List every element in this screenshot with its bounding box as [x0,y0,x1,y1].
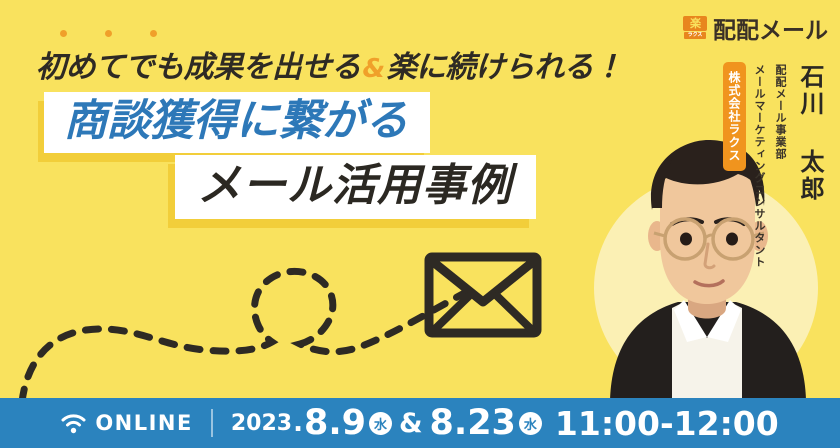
headline-box-1: 商談獲得に繋がる [44,92,430,153]
event-date-1-day: 水 [369,412,392,435]
headline-line-2: メール活用事例 [197,163,512,209]
event-dates-amp: & [399,408,423,439]
lead-dots [60,30,157,37]
event-dates: 2023 . 8.9 水 & 8.23 水 11:00-12:00 [231,404,779,443]
online-badge: ONLINE [61,411,193,435]
speaker-company: 株式会社ラクス [723,62,746,171]
brand-name: 配配メール [713,11,828,45]
headline-line-1: 商談獲得に繋がる [64,99,408,144]
lead-copy: 初めてでも成果を出せる&楽に続けられる！ [36,42,623,86]
speaker-name: 石川 太郎 [793,62,828,203]
event-year: 2023 [231,411,292,436]
lead-copy-amp: & [361,54,387,84]
logo-mark-sub: ラクス [684,32,706,39]
footer-divider [211,409,213,437]
online-label: ONLINE [95,411,193,435]
event-date-2-day: 水 [519,412,542,435]
rakus-logo-icon: 楽 ラクス [683,16,707,40]
event-footer-bar: ONLINE 2023 . 8.9 水 & 8.23 水 11:00-12:00 [0,398,840,448]
envelope-icon [424,252,542,338]
speaker-role: メールマーケティングコンサルタント [751,62,767,268]
wifi-icon [61,413,86,434]
speaker-department: 配配メール事業部 [772,62,788,160]
brand-logo: 楽 ラクス 配配メール [683,11,828,45]
event-time: 11:00-12:00 [555,404,779,443]
logo-mark-glyph: 楽 [683,16,707,31]
lead-dot-1 [60,30,67,37]
webinar-banner: 楽 ラクス 配配メール 初めてでも成果を出せる&楽に続けられる！ 商談獲得に繋が… [0,0,840,448]
lead-dot-3 [150,30,157,37]
lead-copy-part2: 楽に続けられる！ [387,50,623,85]
speaker-info: 株式会社ラクス メールマーケティングコンサルタント 配配メール事業部 石川 太郎 [723,62,828,268]
headline-box-2: メール活用事例 [175,155,536,219]
year-date-separator: . [293,408,303,438]
event-date-1: 8.9 [304,406,366,441]
event-date-2: 8.23 [430,406,516,441]
lead-copy-part1: 初めてでも成果を出せる [36,50,361,85]
lead-dot-2 [105,30,112,37]
dashed-flight-path [0,250,470,410]
